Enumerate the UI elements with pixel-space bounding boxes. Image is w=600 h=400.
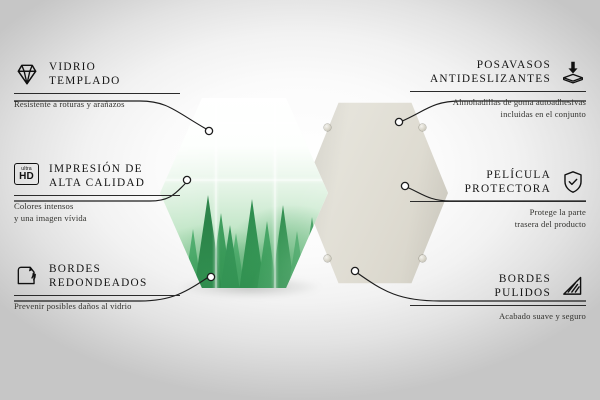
ultra-hd-badge-icon: ultra HD — [14, 163, 40, 189]
feature-rule — [14, 295, 180, 296]
feature-rule — [410, 201, 586, 202]
feature-title-line2: PULIDOS — [495, 286, 551, 300]
feature-bordes-redondeados: BORDES REDONDEADOS Prevenir posibles dañ… — [14, 262, 194, 312]
feature-subtitle-line2: y una imagen vívida — [14, 212, 194, 224]
feature-rule — [14, 93, 180, 94]
feature-vidrio-templado: VIDRIO TEMPLADO Resistente a roturas y a… — [14, 60, 194, 110]
feature-title-line1: BORDES — [49, 262, 147, 276]
feature-title-line1: POSAVASOS — [430, 58, 551, 72]
rounded-corner-icon — [14, 263, 40, 289]
feature-title-line1: BORDES — [495, 272, 551, 286]
feature-title-line1: PELÍCULA — [465, 168, 551, 182]
feature-title-line1: VIDRIO — [49, 60, 121, 74]
connector-endpoint — [205, 127, 212, 134]
feature-title-line2: TEMPLADO — [49, 74, 121, 88]
shield-check-icon — [560, 169, 586, 195]
feature-posavasos-antideslizantes: POSAVASOS ANTIDESLIZANTES Almohadillas d… — [396, 58, 586, 120]
feature-subtitle-line1: Resistente a roturas y arañazos — [14, 98, 194, 110]
feature-title-line2: ANTIDESLIZANTES — [430, 72, 551, 86]
polished-edge-hatch-icon — [560, 273, 586, 299]
connector-endpoint — [207, 273, 214, 280]
feature-rule — [410, 305, 586, 306]
feature-subtitle-line1: Prevenir posibles daños al vidrio — [14, 300, 194, 312]
feature-pelicula-protectora: PELÍCULA PROTECTORA Protege la parte tra… — [396, 168, 586, 230]
feature-subtitle-line1: Almohadillas de goma autoadhesivas — [396, 96, 586, 108]
feature-title-line1: IMPRESIÓN DE — [49, 162, 145, 176]
feature-impresion-alta-calidad: ultra HD IMPRESIÓN DE ALTA CALIDAD Color… — [14, 162, 194, 224]
diamond-icon — [14, 61, 40, 87]
badge-bottom-label: HD — [19, 172, 34, 182]
feature-subtitle-line1: Protege la parte — [396, 206, 586, 218]
feature-title-line2: PROTECTORA — [465, 182, 551, 196]
feature-subtitle-line2: trasera del producto — [396, 218, 586, 230]
feature-subtitle-line1: Colores intensos — [14, 200, 194, 212]
press-pad-arrow-icon — [560, 59, 586, 85]
feature-rule — [14, 195, 180, 196]
feature-title-line2: ALTA CALIDAD — [49, 176, 145, 190]
feature-bordes-pulidos: BORDES PULIDOS Acabado suave y seguro — [396, 272, 586, 322]
feature-subtitle-line2: incluidas en el conjunto — [396, 108, 586, 120]
feature-subtitle-line1: Acabado suave y seguro — [396, 310, 586, 322]
feature-title-line2: REDONDEADOS — [49, 276, 147, 290]
connector-endpoint — [351, 267, 358, 274]
feature-rule — [410, 91, 586, 92]
infographic-canvas: VIDRIO TEMPLADO Resistente a roturas y a… — [0, 0, 600, 400]
